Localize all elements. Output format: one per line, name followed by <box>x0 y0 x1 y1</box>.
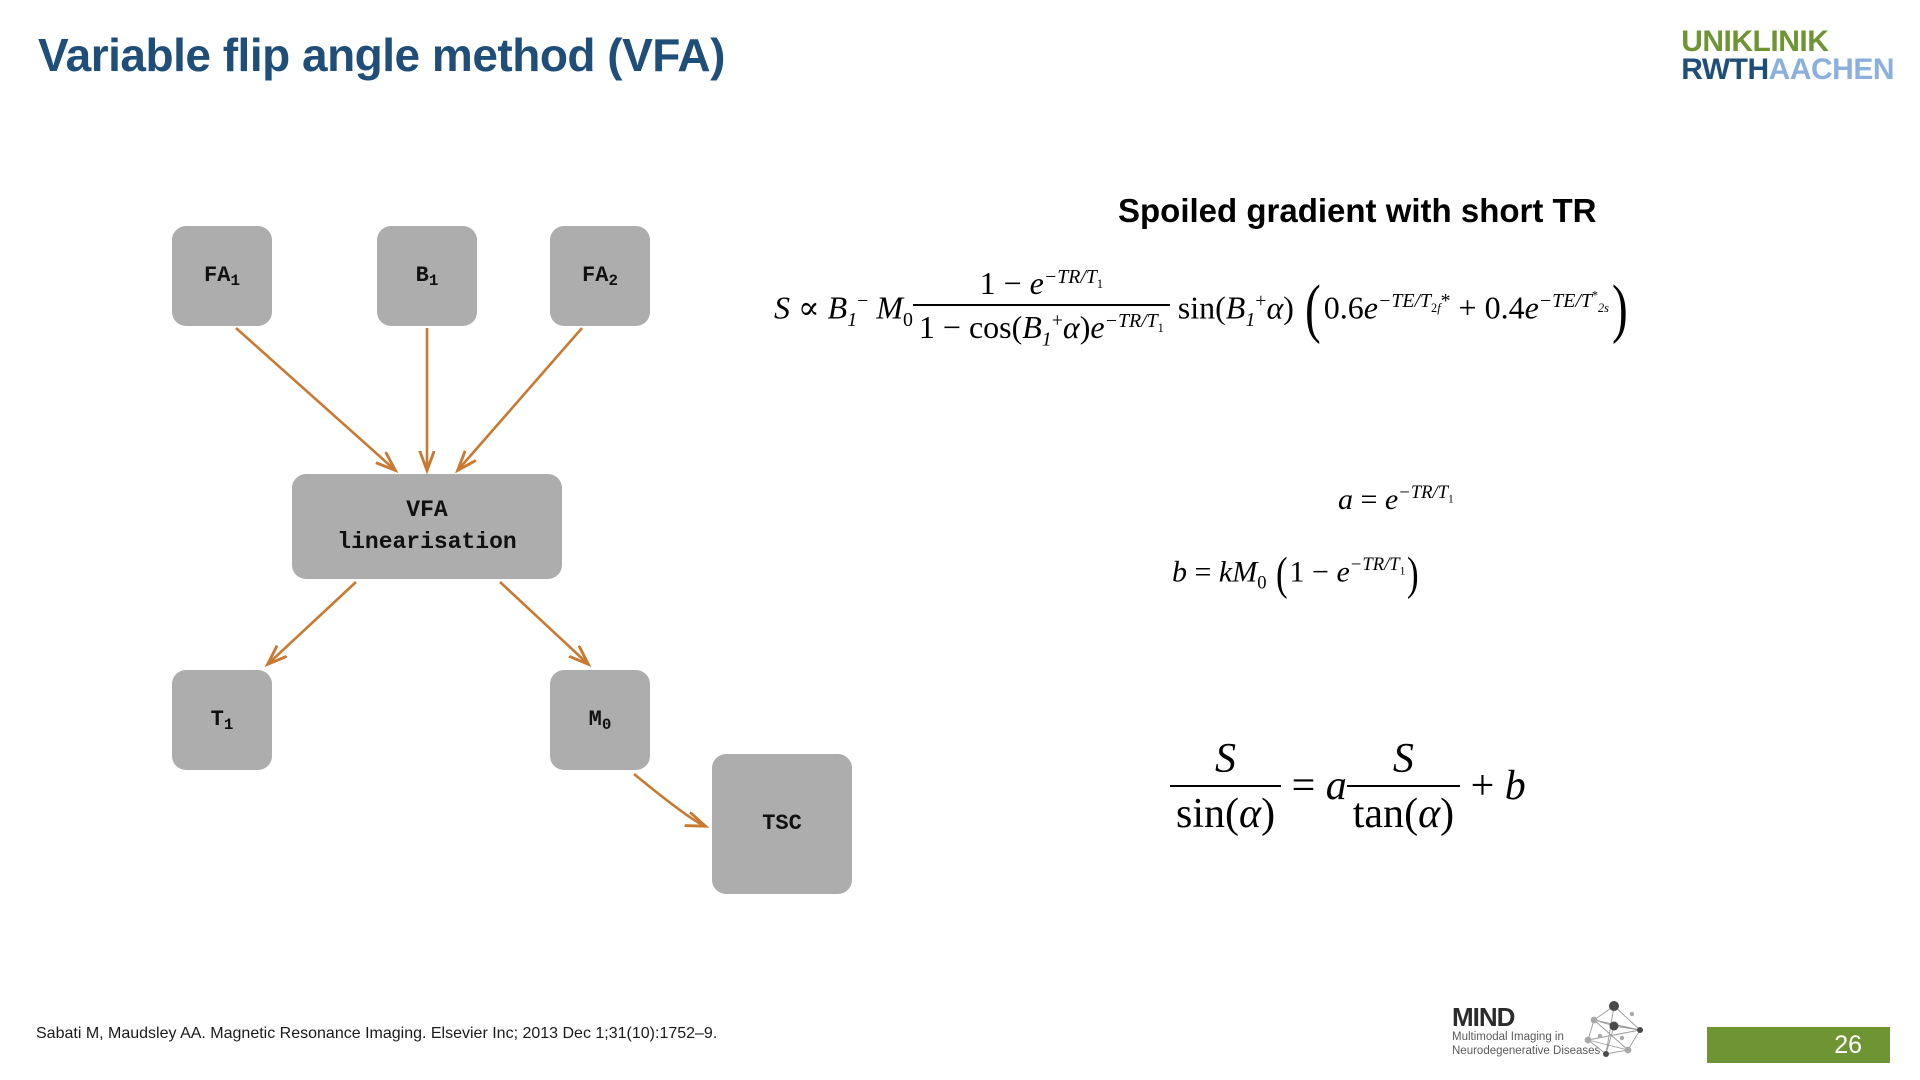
mind-logo: MIND Multimodal Imaging in Neurodegenera… <box>1452 1002 1652 1064</box>
page-number-badge: 26 <box>1707 1027 1890 1063</box>
citation-text: Sabati M, Maudsley AA. Magnetic Resonanc… <box>36 1025 717 1043</box>
flow-node-vfa-label: VFAlinearisation <box>337 495 516 557</box>
mind-logo-word: MIND <box>1452 1002 1514 1033</box>
flow-node-tsc[interactable]: TSC <box>712 754 852 894</box>
flow-node-fa2[interactable]: FA2 <box>550 226 650 326</box>
flow-node-t1-label: T1 <box>211 705 234 735</box>
flow-node-t1[interactable]: T1 <box>172 670 272 770</box>
page-title: Variable flip angle method (VFA) <box>38 28 725 82</box>
flow-node-m0-label: M0 <box>589 705 612 735</box>
arrow-vfa-to-m0 <box>500 582 588 664</box>
uniklinik-logo-rwth: RWTH <box>1681 53 1768 86</box>
arrow-m0-to-tsc <box>634 774 705 826</box>
flow-node-fa1-label: FA1 <box>204 261 240 291</box>
network-graph-icon <box>1574 1000 1654 1062</box>
equation-signal-model: S ∝ B1− M01 − e−TR/T11 − cos(B1+α)e−TR/T… <box>774 268 1631 354</box>
equation-coefficient-a: a = e−TR/T1 <box>1338 482 1454 517</box>
equations-heading: Spoiled gradient with short TR <box>1118 192 1597 230</box>
arrow-fa2-to-vfa <box>458 328 582 470</box>
uniklinik-logo-aachen: AACHEN <box>1769 53 1894 86</box>
flow-node-b1[interactable]: B1 <box>377 226 477 326</box>
uniklinik-rwth-aachen-logo: UNIKLINIK RWTHAACHEN <box>1681 28 1894 84</box>
flow-node-m0[interactable]: M0 <box>550 670 650 770</box>
arrow-fa1-to-vfa <box>236 328 395 470</box>
vfa-flow-chart: FA1 B1 FA2 VFAlinearisation T1 M0 TSC <box>0 120 900 920</box>
uniklinik-logo-line2: RWTHAACHEN <box>1681 56 1894 84</box>
arrow-vfa-to-t1 <box>268 582 356 664</box>
flow-node-fa2-label: FA2 <box>582 261 618 291</box>
equation-coefficient-b: b = kM0 (1 − e−TR/T1) <box>1172 548 1421 601</box>
flow-node-fa1[interactable]: FA1 <box>172 226 272 326</box>
flow-node-tsc-label: TSC <box>762 809 802 839</box>
flow-node-b1-label: B1 <box>416 261 439 291</box>
flow-node-vfa-linearisation[interactable]: VFAlinearisation <box>292 474 562 579</box>
equation-vfa-linearisation: Ssin(α) = aStan(α) + b <box>1170 738 1526 841</box>
uniklinik-logo-line1: UNIKLINIK <box>1681 28 1894 56</box>
